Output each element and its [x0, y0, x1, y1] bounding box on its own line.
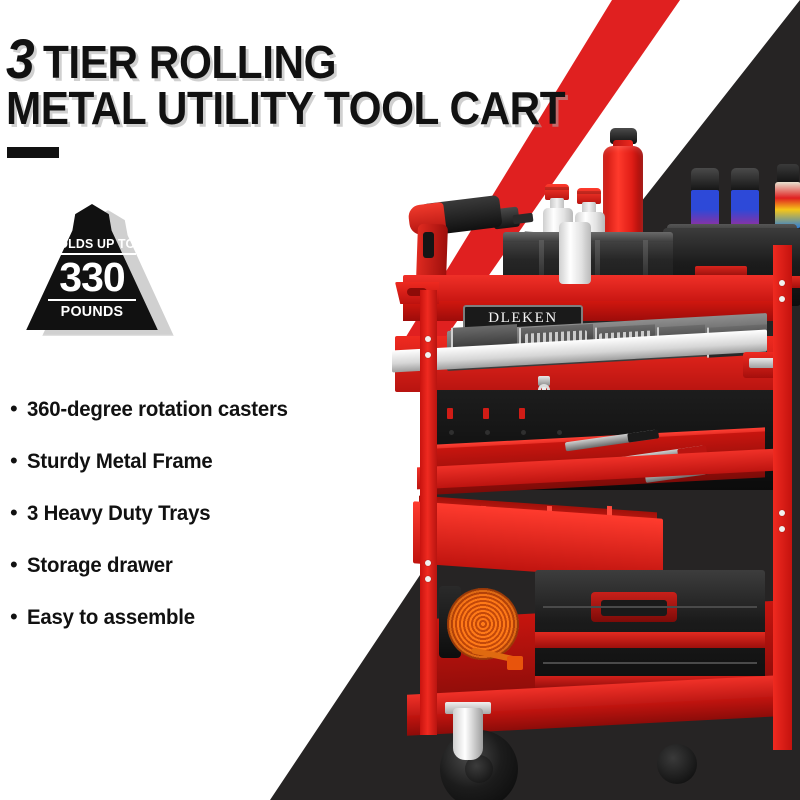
brand-name: DLEKEN	[488, 310, 558, 327]
case-seam	[543, 662, 757, 664]
product-infographic: DLEKEN	[0, 0, 800, 800]
post-rivet	[425, 336, 431, 342]
feature-list: • 360-degree rotation casters • Sturdy M…	[10, 398, 410, 658]
bullet-icon: •	[10, 554, 18, 576]
post-rivet	[779, 296, 785, 302]
drill-battery-indicator	[423, 232, 434, 258]
rear-caster-wheel	[657, 744, 697, 784]
post-rivet	[425, 576, 431, 582]
tool-cart-illustration: DLEKEN	[395, 140, 800, 800]
headline-line-1-text: TIER ROLLING	[43, 40, 336, 84]
case-red-band	[535, 632, 765, 648]
caster-swivel-bracket	[453, 708, 483, 760]
feature-label: Storage drawer	[27, 554, 173, 578]
badge-top-label: HOLDS UP TO	[49, 236, 135, 251]
headline-tier-number: 3	[6, 32, 34, 86]
peg-hole-icon	[485, 430, 490, 435]
cart-front-right-post	[773, 245, 792, 750]
peg-hole-icon	[449, 430, 454, 435]
bullet-icon: •	[10, 502, 18, 524]
peg-hole-icon	[521, 430, 526, 435]
bullet-icon: •	[10, 398, 18, 420]
post-rivet	[425, 560, 431, 566]
paint-can-cap-icon	[777, 164, 799, 184]
list-item: • 360-degree rotation casters	[10, 398, 410, 422]
feature-label: Easy to assemble	[27, 606, 195, 630]
list-item: • Sturdy Metal Frame	[10, 450, 410, 474]
list-item: • Easy to assemble	[10, 606, 410, 630]
list-item: • Storage drawer	[10, 554, 410, 578]
badge-divider	[48, 299, 136, 301]
peg-hook-icon	[519, 408, 525, 419]
peg-hole-icon	[557, 430, 562, 435]
cord-plug-icon	[507, 656, 523, 670]
list-item: • 3 Heavy Duty Trays	[10, 502, 410, 526]
spray-can-cap-icon	[691, 168, 719, 192]
case-seam	[543, 606, 757, 608]
bullet-icon: •	[10, 450, 18, 472]
badge-unit-label: POUNDS	[61, 303, 124, 320]
peg-hook-icon	[483, 408, 489, 419]
post-rivet	[779, 510, 785, 516]
white-bottle-3	[559, 222, 591, 284]
multicolor-can	[775, 182, 800, 228]
bullet-icon: •	[10, 606, 18, 628]
headline-underline	[7, 147, 59, 158]
feature-label: 3 Heavy Duty Trays	[27, 502, 210, 526]
spray-can-cap-icon	[731, 168, 759, 192]
headline-line-1: 3TIER ROLLING	[6, 32, 726, 86]
capacity-badge: HOLDS UP TO 330 POUNDS	[16, 196, 191, 341]
badge-capacity-value: 330	[59, 257, 124, 297]
headline-block: 3TIER ROLLING METAL UTILITY TOOL CART	[6, 32, 726, 130]
post-rivet	[425, 352, 431, 358]
drill-bit-icon	[513, 213, 534, 224]
post-rivet	[779, 526, 785, 532]
post-rivet	[779, 280, 785, 286]
case-handle-grip	[601, 600, 667, 616]
badge-content: HOLDS UP TO 330 POUNDS	[22, 204, 162, 330]
headline-line-2-text: METAL UTILITY TOOL CART	[6, 86, 565, 130]
feature-label: 360-degree rotation casters	[27, 398, 288, 422]
feature-label: Sturdy Metal Frame	[27, 450, 213, 474]
headline-line-2: METAL UTILITY TOOL CART	[6, 86, 726, 130]
peg-hook-icon	[447, 408, 453, 419]
